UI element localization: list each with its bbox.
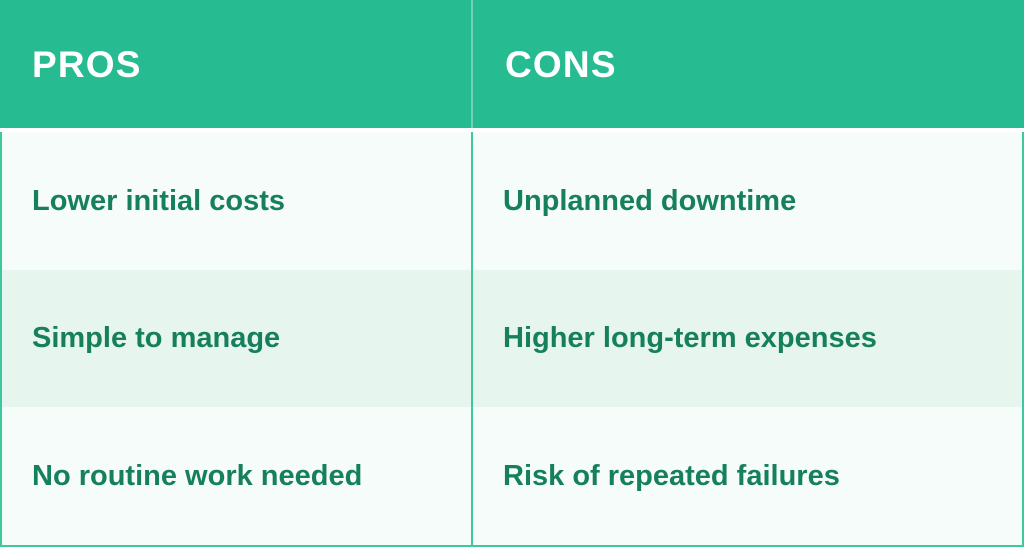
cons-item-label: Risk of repeated failures <box>503 458 840 494</box>
table-row: No routine work needed Risk of repeated … <box>2 407 1022 545</box>
pros-item-label: No routine work needed <box>32 458 362 494</box>
pros-cons-table: PROS CONS Lower initial costs Unplanned … <box>0 0 1024 547</box>
table-body: Lower initial costs Unplanned downtime S… <box>0 132 1024 547</box>
table-cell-pros: Lower initial costs <box>2 132 471 270</box>
table-header-cell-cons: CONS <box>473 0 1024 128</box>
pros-item-label: Simple to manage <box>32 320 280 356</box>
cons-item-label: Unplanned downtime <box>503 183 796 219</box>
table-row: Simple to manage Higher long-term expens… <box>2 270 1022 408</box>
cons-item-label: Higher long-term expenses <box>503 320 877 356</box>
table-row: Lower initial costs Unplanned downtime <box>2 132 1022 270</box>
pros-item-label: Lower initial costs <box>32 183 285 219</box>
table-header-row: PROS CONS <box>0 0 1024 128</box>
cons-column-title: CONS <box>505 46 617 83</box>
table-cell-cons: Higher long-term expenses <box>473 270 1022 408</box>
table-cell-pros: No routine work needed <box>2 407 471 545</box>
table-cell-pros: Simple to manage <box>2 270 471 408</box>
table-cell-cons: Unplanned downtime <box>473 132 1022 270</box>
table-header-cell-pros: PROS <box>0 0 471 128</box>
table-cell-cons: Risk of repeated failures <box>473 407 1022 545</box>
pros-column-title: PROS <box>32 46 142 83</box>
